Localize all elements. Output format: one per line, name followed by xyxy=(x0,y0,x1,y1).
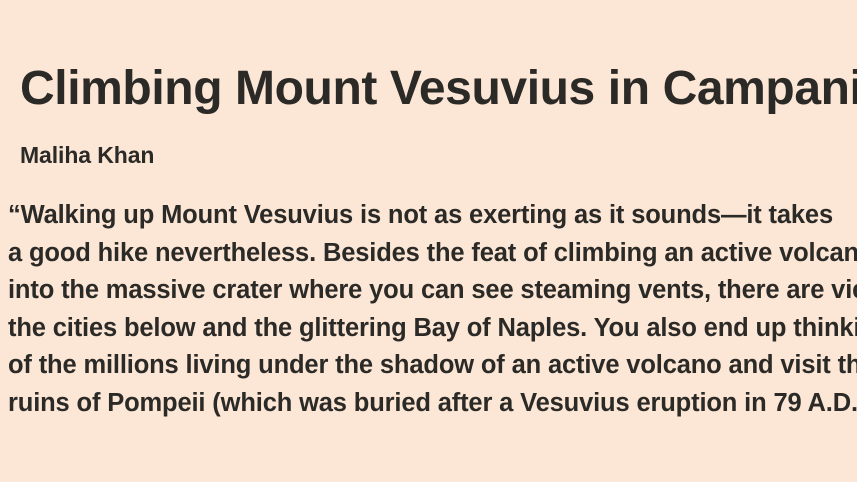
page-title: Climbing Mount Vesuvius in Campania xyxy=(20,0,857,116)
article-byline: Maliha Khan xyxy=(20,116,857,170)
body-line: into the massive crater where you can se… xyxy=(8,272,857,310)
body-line: a good hike nevertheless. Besides the fe… xyxy=(8,235,857,273)
article-container: Climbing Mount Vesuvius in Campania Mali… xyxy=(0,0,857,422)
article-body: “Walking up Mount Vesuvius is not as exe… xyxy=(8,169,857,422)
article-page: Climbing Mount Vesuvius in Campania Mali… xyxy=(0,0,857,482)
body-line: of the millions living under the shadow … xyxy=(8,347,857,385)
body-line: “Walking up Mount Vesuvius is not as exe… xyxy=(8,197,857,235)
body-line: the cities below and the glittering Bay … xyxy=(8,310,857,348)
body-line: ruins of Pompeii (which was buried after… xyxy=(8,385,857,423)
